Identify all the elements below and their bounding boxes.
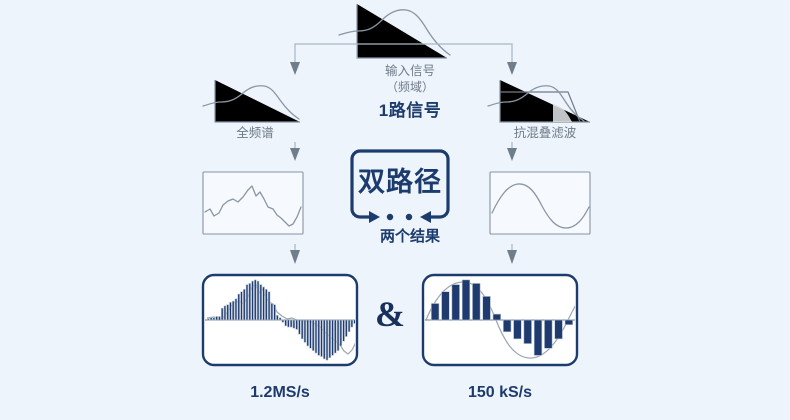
right-branch-arrow <box>507 142 517 161</box>
sample-bar <box>343 320 345 341</box>
antialias-chart <box>488 80 590 122</box>
diagram-canvas: 输入信号 （频域） 1路信号 全频谱 抗混叠滤波 两个结果 & 1.2MS/s … <box>0 0 790 420</box>
sample-bar <box>265 289 267 320</box>
sample-bar <box>503 320 511 332</box>
sample-bar <box>472 283 480 320</box>
sample-bar <box>555 320 563 339</box>
sample-bar <box>345 320 347 337</box>
sample-bar <box>274 305 276 320</box>
sample-bar <box>246 285 248 320</box>
sample-bar <box>293 320 295 328</box>
sample-bar <box>431 303 439 320</box>
sample-bar <box>312 320 314 351</box>
sample-bar <box>326 320 328 360</box>
sample-bar <box>452 285 460 320</box>
sample-bar <box>301 320 303 339</box>
sample-bar <box>243 289 245 320</box>
sample-bar <box>340 320 342 346</box>
sample-bar <box>257 281 259 320</box>
sample-bar <box>493 314 501 320</box>
sample-bar <box>321 320 323 357</box>
sample-bar <box>287 320 289 327</box>
input-signal-caption-line2: （频域） <box>325 80 495 95</box>
sine-waveform-panel <box>490 172 590 234</box>
sample-bar <box>315 320 317 353</box>
sample-bar <box>276 315 278 320</box>
input-spectrum-chart <box>339 4 450 58</box>
sample-bar <box>271 303 273 320</box>
sample-bar <box>218 316 220 320</box>
sample-bar <box>299 320 301 334</box>
sample-bar <box>323 320 325 359</box>
sample-bar <box>296 320 298 329</box>
full-spectrum-chart <box>203 80 300 122</box>
sample-bar <box>221 308 223 320</box>
sample-bar <box>462 280 470 320</box>
sample-bar <box>230 302 232 320</box>
sample-bar <box>210 318 212 320</box>
sample-bar <box>565 320 573 325</box>
sample-bar <box>524 320 532 344</box>
sample-bar <box>232 301 234 320</box>
two-results-label: 两个结果 <box>325 228 495 247</box>
sample-bar <box>514 320 522 339</box>
sample-bar <box>216 316 218 320</box>
sample-bar <box>227 305 229 320</box>
sample-bar <box>249 283 251 320</box>
sample-bar <box>213 318 215 320</box>
sample-bar <box>224 306 226 320</box>
full-spectrum-caption: 全频谱 <box>195 126 315 142</box>
sample-bar <box>442 292 450 320</box>
high-rate-sampling-panel <box>203 275 357 365</box>
sample-bar <box>318 320 320 355</box>
sample-bar <box>329 320 331 358</box>
sample-bar <box>351 320 353 327</box>
diagram-graphics <box>0 0 790 420</box>
low-rate-sampling-panel <box>423 275 577 365</box>
sample-bar <box>310 320 312 348</box>
antialias-caption: 抗混叠滤波 <box>480 126 610 142</box>
low-rate-label: 150 kS/s <box>420 383 580 403</box>
sample-bar <box>235 299 237 320</box>
sample-bar <box>334 320 336 353</box>
sample-bar <box>534 320 542 355</box>
sample-bar <box>260 285 262 320</box>
sample-bar <box>263 287 265 320</box>
sample-bar <box>282 320 284 322</box>
sample-bar <box>254 280 256 320</box>
dual-path-title: 双路径 <box>352 166 448 200</box>
left-branch-arrow <box>290 142 300 161</box>
high-rate-label: 1.2MS/s <box>200 383 360 403</box>
sample-bar <box>307 320 309 346</box>
sample-bar <box>304 320 306 342</box>
sample-bar <box>348 320 350 332</box>
sample-bar <box>207 319 209 320</box>
sample-bar <box>483 296 491 320</box>
sample-bar <box>332 320 334 355</box>
sample-bar <box>241 292 243 320</box>
sample-bar <box>268 292 270 320</box>
input-signal-caption-line1: 输入信号 <box>325 64 495 80</box>
left-result-arrow <box>290 244 300 264</box>
sample-bar <box>252 281 254 320</box>
one-channel-label: 1路信号 <box>325 100 495 121</box>
input-signal-caption: 输入信号 （频域） <box>325 64 495 95</box>
sample-bar <box>544 320 552 348</box>
sample-bar <box>337 320 339 351</box>
sample-bar <box>285 320 287 326</box>
right-result-arrow <box>507 244 517 264</box>
sample-bar <box>238 294 240 320</box>
sample-bar <box>279 318 281 320</box>
ampersand-joiner: & <box>370 292 410 337</box>
sample-bar <box>290 320 292 327</box>
noisy-waveform-panel <box>203 172 303 234</box>
